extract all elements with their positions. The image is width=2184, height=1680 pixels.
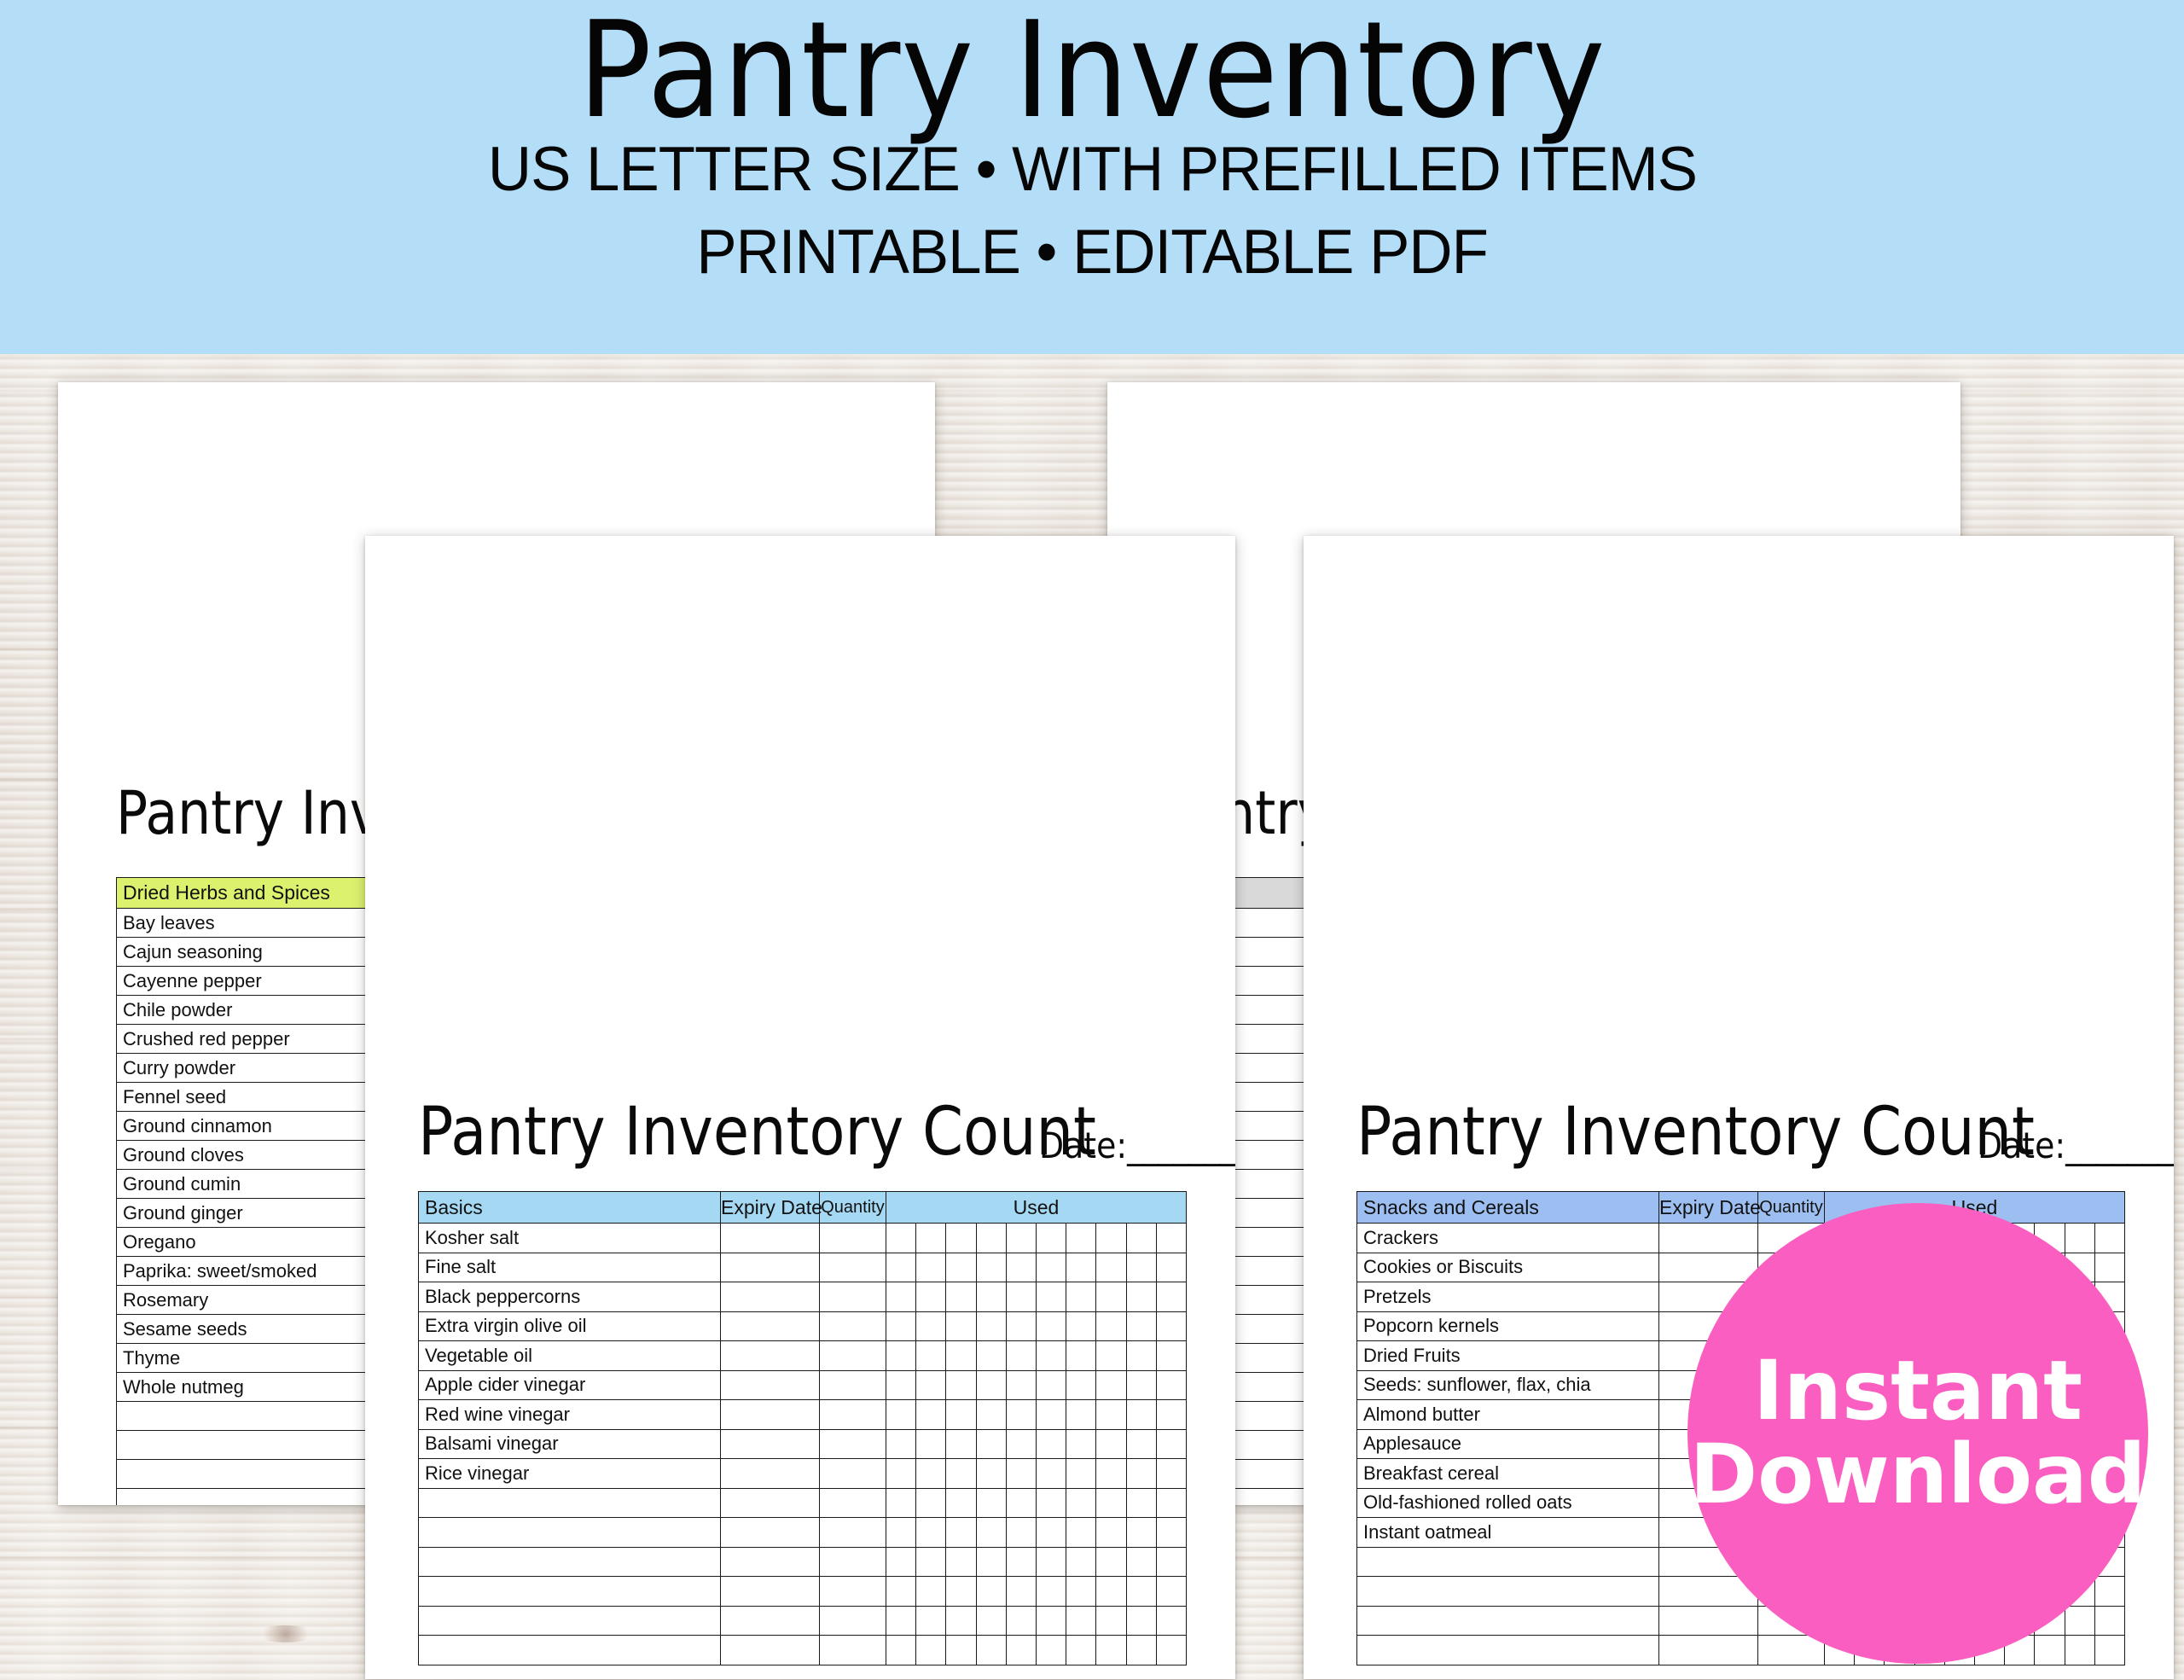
used-checkbox-cell[interactable] bbox=[1156, 1636, 1186, 1665]
used-checkbox-cell[interactable] bbox=[1096, 1547, 1126, 1577]
used-checkbox-cell[interactable] bbox=[1126, 1488, 1156, 1518]
quantity-cell[interactable] bbox=[820, 1370, 886, 1400]
used-checkbox-cell[interactable] bbox=[2065, 1224, 2094, 1253]
expiry-date-cell[interactable] bbox=[721, 1577, 820, 1607]
used-checkbox-cell[interactable] bbox=[916, 1488, 946, 1518]
used-checkbox-cell[interactable] bbox=[1126, 1547, 1156, 1577]
used-checkbox-cell[interactable] bbox=[1066, 1341, 1096, 1371]
table-row[interactable]: Black peppercorns bbox=[419, 1282, 1187, 1312]
expiry-date-cell[interactable] bbox=[721, 1547, 820, 1577]
used-checkbox-cell[interactable] bbox=[1126, 1459, 1156, 1489]
used-checkbox-cell[interactable] bbox=[976, 1282, 1006, 1312]
used-checkbox-cell[interactable] bbox=[1006, 1224, 1036, 1253]
used-checkbox-cell[interactable] bbox=[1006, 1370, 1036, 1400]
instant-download-badge[interactable]: Instant Download bbox=[1687, 1203, 2148, 1664]
used-checkbox-cell[interactable] bbox=[1066, 1518, 1096, 1548]
expiry-date-cell[interactable] bbox=[721, 1636, 820, 1665]
date-label: Date: bbox=[1039, 1125, 1127, 1166]
quantity-cell[interactable] bbox=[820, 1577, 886, 1607]
used-checkbox-cell[interactable] bbox=[1006, 1459, 1036, 1489]
used-checkbox-cell[interactable] bbox=[916, 1429, 946, 1459]
used-checkbox-cell[interactable] bbox=[886, 1429, 916, 1459]
quantity-cell[interactable] bbox=[820, 1459, 886, 1489]
banner-subtitle-line-1: US LETTER SIZE • WITH PREFILLED ITEMS bbox=[487, 137, 1696, 204]
item-name-cell[interactable]: Balsami vinegar bbox=[419, 1429, 721, 1459]
table-row[interactable]: Red wine vinegar bbox=[419, 1400, 1187, 1430]
used-checkbox-cell[interactable] bbox=[1096, 1400, 1126, 1430]
column-header-expiry-date: Expiry Date bbox=[1659, 1192, 1758, 1224]
used-checkbox-cell[interactable] bbox=[1006, 1547, 1036, 1577]
used-checkbox-cell[interactable] bbox=[1126, 1253, 1156, 1282]
used-checkbox-cell[interactable] bbox=[976, 1311, 1006, 1341]
table-category-header: Snacks and Cereals bbox=[1357, 1192, 1659, 1224]
column-header-used: Used bbox=[886, 1192, 1187, 1224]
expiry-date-cell[interactable] bbox=[721, 1224, 820, 1253]
used-checkbox-cell[interactable] bbox=[1126, 1282, 1156, 1312]
used-checkbox-cell[interactable] bbox=[1156, 1488, 1186, 1518]
used-checkbox-cell[interactable] bbox=[946, 1488, 976, 1518]
used-checkbox-cell[interactable] bbox=[886, 1400, 916, 1430]
table-row[interactable]: Rice vinegar bbox=[419, 1459, 1187, 1489]
item-name-cell[interactable] bbox=[1357, 1636, 1659, 1665]
used-checkbox-cell[interactable] bbox=[886, 1370, 916, 1400]
used-checkbox-cell[interactable] bbox=[1156, 1282, 1186, 1312]
used-checkbox-cell[interactable] bbox=[946, 1577, 976, 1607]
used-checkbox-cell[interactable] bbox=[946, 1429, 976, 1459]
inventory-table: BasicsExpiry DateQuantityUsedKosher salt… bbox=[418, 1191, 1187, 1665]
item-name-cell[interactable]: Rice vinegar bbox=[419, 1459, 721, 1489]
used-checkbox-cell[interactable] bbox=[1066, 1400, 1096, 1430]
used-checkbox-cell[interactable] bbox=[886, 1606, 916, 1636]
used-checkbox-cell[interactable] bbox=[976, 1341, 1006, 1371]
used-checkbox-cell[interactable] bbox=[1036, 1547, 1066, 1577]
quantity-cell[interactable] bbox=[820, 1282, 886, 1312]
used-checkbox-cell[interactable] bbox=[1156, 1429, 1186, 1459]
used-checkbox-cell[interactable] bbox=[1006, 1488, 1036, 1518]
used-checkbox-cell[interactable] bbox=[1156, 1341, 1186, 1371]
used-checkbox-cell[interactable] bbox=[1126, 1636, 1156, 1665]
column-header-quantity: Quantity bbox=[820, 1192, 886, 1224]
used-checkbox-cell[interactable] bbox=[1126, 1518, 1156, 1548]
used-checkbox-cell[interactable] bbox=[2094, 1606, 2124, 1636]
item-name-cell[interactable] bbox=[419, 1518, 721, 1548]
used-checkbox-cell[interactable] bbox=[946, 1224, 976, 1253]
badge-line-1: Instant bbox=[1753, 1350, 2082, 1433]
used-checkbox-cell[interactable] bbox=[2065, 1606, 2094, 1636]
expiry-date-cell[interactable] bbox=[721, 1370, 820, 1400]
item-name-cell[interactable]: Cookies or Biscuits bbox=[1357, 1253, 1659, 1282]
table-row[interactable] bbox=[419, 1488, 1187, 1518]
used-checkbox-cell[interactable] bbox=[946, 1459, 976, 1489]
column-header-quantity: Quantity bbox=[1758, 1192, 1825, 1224]
used-checkbox-cell[interactable] bbox=[1036, 1253, 1066, 1282]
quantity-cell[interactable] bbox=[820, 1547, 886, 1577]
item-name-cell[interactable]: Red wine vinegar bbox=[419, 1400, 721, 1430]
used-checkbox-cell[interactable] bbox=[1066, 1311, 1096, 1341]
expiry-date-cell[interactable] bbox=[1659, 1253, 1758, 1282]
table-category-header: Basics bbox=[419, 1192, 721, 1224]
used-checkbox-cell[interactable] bbox=[1096, 1224, 1126, 1253]
used-checkbox-cell[interactable] bbox=[916, 1518, 946, 1548]
used-checkbox-cell[interactable] bbox=[916, 1577, 946, 1607]
used-checkbox-cell[interactable] bbox=[1036, 1341, 1066, 1371]
quantity-cell[interactable] bbox=[820, 1518, 886, 1548]
used-checkbox-cell[interactable] bbox=[1036, 1459, 1066, 1489]
date-label: Date: bbox=[1978, 1125, 2065, 1166]
item-name-cell[interactable] bbox=[419, 1636, 721, 1665]
used-checkbox-cell[interactable] bbox=[1156, 1400, 1186, 1430]
used-checkbox-cell[interactable] bbox=[916, 1400, 946, 1430]
used-checkbox-cell[interactable] bbox=[976, 1547, 1006, 1577]
table-row[interactable] bbox=[419, 1518, 1187, 1548]
used-checkbox-cell[interactable] bbox=[946, 1253, 976, 1282]
wood-knot-2 bbox=[256, 1625, 316, 1642]
banner-subtitle-line-2: PRINTABLE • EDITABLE PDF bbox=[696, 219, 1488, 287]
item-name-cell[interactable]: Extra virgin olive oil bbox=[419, 1311, 721, 1341]
used-checkbox-cell[interactable] bbox=[1126, 1224, 1156, 1253]
used-checkbox-cell[interactable] bbox=[1096, 1518, 1126, 1548]
used-checkbox-cell[interactable] bbox=[976, 1429, 1006, 1459]
used-checkbox-cell[interactable] bbox=[916, 1282, 946, 1312]
item-name-cell[interactable]: Breakfast cereal bbox=[1357, 1459, 1659, 1489]
item-name-cell[interactable]: Applesauce bbox=[1357, 1429, 1659, 1459]
used-checkbox-cell[interactable] bbox=[1156, 1606, 1186, 1636]
used-checkbox-cell[interactable] bbox=[1156, 1253, 1186, 1282]
used-checkbox-cell[interactable] bbox=[1036, 1370, 1066, 1400]
used-checkbox-cell[interactable] bbox=[1096, 1606, 1126, 1636]
used-checkbox-cell[interactable] bbox=[976, 1577, 1006, 1607]
used-checkbox-cell[interactable] bbox=[2035, 1636, 2065, 1665]
expiry-date-cell[interactable] bbox=[721, 1518, 820, 1548]
used-checkbox-cell[interactable] bbox=[916, 1253, 946, 1282]
used-checkbox-cell[interactable] bbox=[886, 1547, 916, 1577]
used-checkbox-cell[interactable] bbox=[1036, 1606, 1066, 1636]
used-checkbox-cell[interactable] bbox=[916, 1224, 946, 1253]
used-checkbox-cell[interactable] bbox=[1126, 1429, 1156, 1459]
used-checkbox-cell[interactable] bbox=[976, 1636, 1006, 1665]
quantity-cell[interactable] bbox=[820, 1400, 886, 1430]
expiry-date-cell[interactable] bbox=[721, 1400, 820, 1430]
used-checkbox-cell[interactable] bbox=[1066, 1459, 1096, 1489]
used-checkbox-cell[interactable] bbox=[1006, 1577, 1036, 1607]
expiry-date-cell[interactable] bbox=[721, 1282, 820, 1312]
table-row[interactable] bbox=[419, 1636, 1187, 1665]
used-checkbox-cell[interactable] bbox=[916, 1459, 946, 1489]
expiry-date-cell[interactable] bbox=[721, 1311, 820, 1341]
expiry-date-cell[interactable] bbox=[721, 1459, 820, 1489]
table-row[interactable] bbox=[419, 1547, 1187, 1577]
used-checkbox-cell[interactable] bbox=[1036, 1311, 1066, 1341]
used-checkbox-cell[interactable] bbox=[1036, 1488, 1066, 1518]
used-checkbox-cell[interactable] bbox=[1066, 1636, 1096, 1665]
used-checkbox-cell[interactable] bbox=[946, 1282, 976, 1312]
used-checkbox-cell[interactable] bbox=[976, 1370, 1006, 1400]
expiry-date-cell[interactable] bbox=[721, 1606, 820, 1636]
used-checkbox-cell[interactable] bbox=[946, 1400, 976, 1430]
used-checkbox-cell[interactable] bbox=[1006, 1429, 1036, 1459]
page-title: Pantry Inventory bbox=[578, 3, 1606, 137]
used-checkbox-cell[interactable] bbox=[886, 1341, 916, 1371]
used-checkbox-cell[interactable] bbox=[1066, 1224, 1096, 1253]
item-name-cell[interactable] bbox=[419, 1488, 721, 1518]
used-checkbox-cell[interactable] bbox=[1036, 1429, 1066, 1459]
table-row[interactable]: Fine salt bbox=[419, 1253, 1187, 1282]
used-checkbox-cell[interactable] bbox=[1036, 1518, 1066, 1548]
used-checkbox-cell[interactable] bbox=[1096, 1577, 1126, 1607]
item-name-cell[interactable]: Black peppercorns bbox=[419, 1282, 721, 1312]
date-field[interactable]: Date:____________ bbox=[1039, 1128, 1235, 1164]
quantity-cell[interactable] bbox=[820, 1224, 886, 1253]
used-checkbox-cell[interactable] bbox=[2094, 1253, 2124, 1282]
item-name-cell[interactable]: Instant oatmeal bbox=[1357, 1518, 1659, 1548]
sheet-title: Pantry Inventory Count bbox=[418, 1099, 1096, 1166]
table-row[interactable]: Kosher salt bbox=[419, 1224, 1187, 1253]
used-checkbox-cell[interactable] bbox=[946, 1606, 976, 1636]
date-blank-rule: ____________ bbox=[1127, 1125, 1235, 1166]
used-checkbox-cell[interactable] bbox=[976, 1224, 1006, 1253]
used-checkbox-cell[interactable] bbox=[916, 1606, 946, 1636]
table-row[interactable]: Balsami vinegar bbox=[419, 1429, 1187, 1459]
used-checkbox-cell[interactable] bbox=[1126, 1577, 1156, 1607]
item-name-cell[interactable]: Vegetable oil bbox=[419, 1341, 721, 1371]
used-checkbox-cell[interactable] bbox=[976, 1253, 1006, 1282]
used-checkbox-cell[interactable] bbox=[1096, 1636, 1126, 1665]
used-checkbox-cell[interactable] bbox=[1126, 1311, 1156, 1341]
used-checkbox-cell[interactable] bbox=[1066, 1429, 1096, 1459]
sheet-title: Pantry Inventory Count bbox=[1356, 1099, 2035, 1166]
item-name-cell[interactable]: Pretzels bbox=[1357, 1282, 1659, 1312]
used-checkbox-cell[interactable] bbox=[1036, 1636, 1066, 1665]
used-checkbox-cell[interactable] bbox=[1006, 1400, 1036, 1430]
used-checkbox-cell[interactable] bbox=[946, 1518, 976, 1548]
table-row[interactable]: Apple cider vinegar bbox=[419, 1370, 1187, 1400]
quantity-cell[interactable] bbox=[820, 1311, 886, 1341]
used-checkbox-cell[interactable] bbox=[1036, 1577, 1066, 1607]
used-checkbox-cell[interactable] bbox=[976, 1518, 1006, 1548]
expiry-date-cell[interactable] bbox=[1659, 1224, 1758, 1253]
used-checkbox-cell[interactable] bbox=[886, 1636, 916, 1665]
used-checkbox-cell[interactable] bbox=[1156, 1311, 1186, 1341]
product-listing-image: Pantry Inventory US LETTER SIZE • WITH P… bbox=[0, 0, 2184, 1680]
expiry-date-cell[interactable] bbox=[1659, 1636, 1758, 1665]
used-checkbox-cell[interactable] bbox=[2065, 1636, 2094, 1665]
used-checkbox-cell[interactable] bbox=[976, 1400, 1006, 1430]
used-checkbox-cell[interactable] bbox=[1066, 1488, 1096, 1518]
item-name-cell[interactable] bbox=[1357, 1577, 1659, 1607]
used-checkbox-cell[interactable] bbox=[1096, 1311, 1126, 1341]
item-name-cell[interactable]: Apple cider vinegar bbox=[419, 1370, 721, 1400]
used-checkbox-cell[interactable] bbox=[1096, 1282, 1126, 1312]
item-name-cell[interactable] bbox=[419, 1547, 721, 1577]
table-row[interactable]: Extra virgin olive oil bbox=[419, 1311, 1187, 1341]
used-checkbox-cell[interactable] bbox=[1126, 1341, 1156, 1371]
used-checkbox-cell[interactable] bbox=[1156, 1459, 1186, 1489]
used-checkbox-cell[interactable] bbox=[2094, 1636, 2124, 1665]
item-name-cell[interactable]: Popcorn kernels bbox=[1357, 1311, 1659, 1341]
used-checkbox-cell[interactable] bbox=[1096, 1459, 1126, 1489]
used-checkbox-cell[interactable] bbox=[946, 1311, 976, 1341]
used-checkbox-cell[interactable] bbox=[1006, 1636, 1036, 1665]
used-checkbox-cell[interactable] bbox=[1126, 1606, 1156, 1636]
date-blank-rule: ____________ bbox=[2065, 1125, 2174, 1166]
date-field[interactable]: Date:____________ bbox=[1978, 1128, 2174, 1164]
used-checkbox-cell[interactable] bbox=[1096, 1488, 1126, 1518]
used-checkbox-cell[interactable] bbox=[1156, 1224, 1186, 1253]
used-checkbox-cell[interactable] bbox=[1036, 1400, 1066, 1430]
used-checkbox-cell[interactable] bbox=[946, 1547, 976, 1577]
expiry-date-cell[interactable] bbox=[721, 1253, 820, 1282]
table-row[interactable] bbox=[419, 1577, 1187, 1607]
used-checkbox-cell[interactable] bbox=[1066, 1547, 1096, 1577]
used-checkbox-cell[interactable] bbox=[916, 1311, 946, 1341]
used-checkbox-cell[interactable] bbox=[1066, 1282, 1096, 1312]
quantity-cell[interactable] bbox=[820, 1488, 886, 1518]
expiry-date-cell[interactable] bbox=[721, 1429, 820, 1459]
quantity-cell[interactable] bbox=[820, 1341, 886, 1371]
used-checkbox-cell[interactable] bbox=[946, 1370, 976, 1400]
used-checkbox-cell[interactable] bbox=[1066, 1253, 1096, 1282]
used-checkbox-cell[interactable] bbox=[1066, 1577, 1096, 1607]
badge-line-2: Download bbox=[1689, 1433, 2146, 1517]
used-checkbox-cell[interactable] bbox=[1096, 1370, 1126, 1400]
used-checkbox-cell[interactable] bbox=[946, 1341, 976, 1371]
used-checkbox-cell[interactable] bbox=[886, 1311, 916, 1341]
header-banner: Pantry Inventory US LETTER SIZE • WITH P… bbox=[0, 0, 2184, 354]
used-checkbox-cell[interactable] bbox=[1096, 1253, 1126, 1282]
used-checkbox-cell[interactable] bbox=[2094, 1224, 2124, 1253]
used-checkbox-cell[interactable] bbox=[916, 1370, 946, 1400]
used-checkbox-cell[interactable] bbox=[1006, 1341, 1036, 1371]
used-checkbox-cell[interactable] bbox=[886, 1577, 916, 1607]
used-checkbox-cell[interactable] bbox=[976, 1459, 1006, 1489]
item-name-cell[interactable]: Crackers bbox=[1357, 1224, 1659, 1253]
used-checkbox-cell[interactable] bbox=[1006, 1606, 1036, 1636]
used-checkbox-cell[interactable] bbox=[916, 1341, 946, 1371]
expiry-date-cell[interactable] bbox=[721, 1341, 820, 1371]
used-checkbox-cell[interactable] bbox=[976, 1606, 1006, 1636]
used-checkbox-cell[interactable] bbox=[946, 1636, 976, 1665]
used-checkbox-cell[interactable] bbox=[1006, 1282, 1036, 1312]
item-name-cell[interactable] bbox=[419, 1577, 721, 1607]
used-checkbox-cell[interactable] bbox=[976, 1488, 1006, 1518]
used-checkbox-cell[interactable] bbox=[1006, 1518, 1036, 1548]
quantity-cell[interactable] bbox=[820, 1606, 886, 1636]
item-name-cell[interactable] bbox=[1357, 1606, 1659, 1636]
used-checkbox-cell[interactable] bbox=[886, 1282, 916, 1312]
used-checkbox-cell[interactable] bbox=[2094, 1577, 2124, 1607]
used-checkbox-cell[interactable] bbox=[1096, 1429, 1126, 1459]
used-checkbox-cell[interactable] bbox=[1156, 1577, 1186, 1607]
quantity-cell[interactable] bbox=[820, 1429, 886, 1459]
expiry-date-cell[interactable] bbox=[721, 1488, 820, 1518]
used-checkbox-cell[interactable] bbox=[886, 1224, 916, 1253]
used-checkbox-cell[interactable] bbox=[1036, 1282, 1066, 1312]
used-checkbox-cell[interactable] bbox=[1006, 1311, 1036, 1341]
used-checkbox-cell[interactable] bbox=[1036, 1224, 1066, 1253]
item-name-cell[interactable] bbox=[419, 1606, 721, 1636]
quantity-cell[interactable] bbox=[820, 1636, 886, 1665]
used-checkbox-cell[interactable] bbox=[886, 1459, 916, 1489]
expiry-date-cell[interactable] bbox=[1659, 1606, 1758, 1636]
used-checkbox-cell[interactable] bbox=[886, 1253, 916, 1282]
used-checkbox-cell[interactable] bbox=[1006, 1253, 1036, 1282]
item-name-cell[interactable]: Old-fashioned rolled oats bbox=[1357, 1488, 1659, 1518]
used-checkbox-cell[interactable] bbox=[886, 1518, 916, 1548]
item-name-cell[interactable]: Almond butter bbox=[1357, 1400, 1659, 1430]
used-checkbox-cell[interactable] bbox=[916, 1636, 946, 1665]
used-checkbox-cell[interactable] bbox=[1126, 1370, 1156, 1400]
used-checkbox-cell[interactable] bbox=[916, 1547, 946, 1577]
used-checkbox-cell[interactable] bbox=[1156, 1370, 1186, 1400]
used-checkbox-cell[interactable] bbox=[1156, 1518, 1186, 1548]
used-checkbox-cell[interactable] bbox=[1126, 1400, 1156, 1430]
table-row[interactable]: Vegetable oil bbox=[419, 1341, 1187, 1371]
item-name-cell[interactable]: Seeds: sunflower, flax, chia bbox=[1357, 1370, 1659, 1400]
item-name-cell[interactable]: Dried Fruits bbox=[1357, 1341, 1659, 1371]
table-row[interactable] bbox=[419, 1606, 1187, 1636]
item-name-cell[interactable] bbox=[1357, 1547, 1659, 1577]
used-checkbox-cell[interactable] bbox=[886, 1488, 916, 1518]
used-checkbox-cell[interactable] bbox=[1066, 1606, 1096, 1636]
sheet-basics: Pantry Inventory CountDate:____________B… bbox=[365, 536, 1235, 1679]
item-name-cell[interactable]: Kosher salt bbox=[419, 1224, 721, 1253]
item-name-cell[interactable]: Fine salt bbox=[419, 1253, 721, 1282]
used-checkbox-cell[interactable] bbox=[1066, 1370, 1096, 1400]
used-checkbox-cell[interactable] bbox=[1096, 1341, 1126, 1371]
quantity-cell[interactable] bbox=[820, 1253, 886, 1282]
used-checkbox-cell[interactable] bbox=[1156, 1547, 1186, 1577]
column-header-expiry-date: Expiry Date bbox=[721, 1192, 820, 1224]
